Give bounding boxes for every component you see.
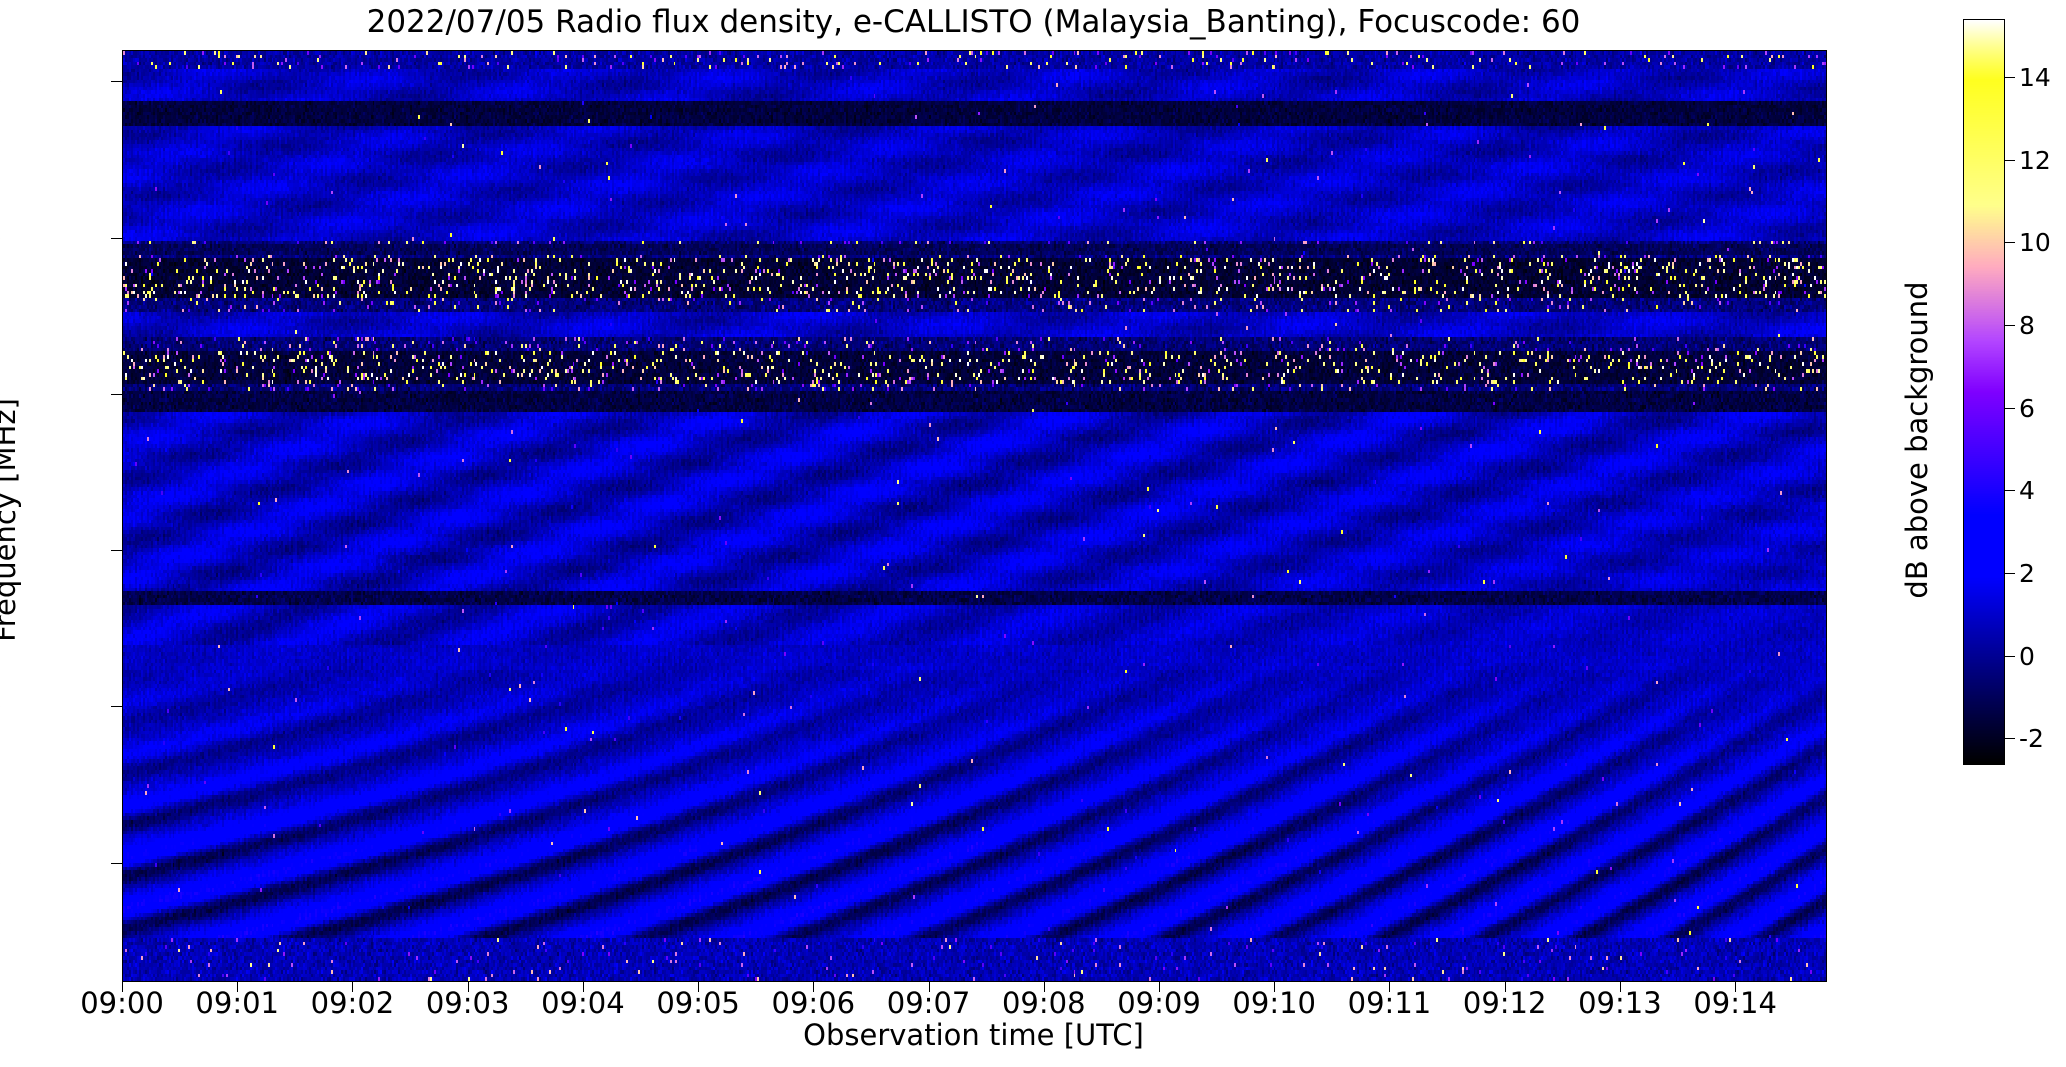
x-axis-tick-mark [122,981,123,992]
colorbar-tick-mark [2005,242,2015,243]
colorbar-tick-label: 6 [2019,394,2035,423]
colorbar[interactable] [1963,19,2005,765]
x-axis-tick-mark [468,981,469,992]
y-axis-tick-label: 120 [0,378,2,412]
x-axis-tick-mark [1159,981,1160,992]
x-axis-tick-mark [1505,981,1506,992]
colorbar-tick-label: -2 [2019,724,2044,753]
colorbar-tick-label: 12 [2019,146,2051,175]
y-axis-tick-label: 160 [0,65,2,99]
x-axis-tick-mark [1735,981,1736,992]
page-title: 2022/07/05 Radio flux density, e-CALLIST… [122,4,1825,40]
colorbar-tick-mark [2005,490,2015,491]
colorbar-tick-label: 4 [2019,476,2035,505]
colorbar-tick-mark [2005,77,2015,78]
x-axis-tick-mark [1620,981,1621,992]
x-axis-tick-mark [237,981,238,992]
x-axis-tick-mark [583,981,584,992]
colorbar-tick-mark [2005,738,2015,739]
y-axis-tick-mark [111,394,122,395]
y-axis-tick-mark [111,238,122,239]
y-axis-tick-label: 140 [0,222,2,256]
y-axis-tick-mark [111,863,122,864]
colorbar-tick-label: 8 [2019,311,2035,340]
figure-canvas: 2022/07/05 Radio flux density, e-CALLIST… [0,0,2066,1067]
colorbar-label: dB above background [1900,230,1934,650]
spectrogram-axes[interactable] [122,50,1827,982]
y-axis-tick-label: 100 [0,534,2,568]
y-axis-label: Frequency [MHz] [0,330,22,710]
x-axis-tick-mark [1389,981,1390,992]
x-axis-tick-mark [929,981,930,992]
spectrogram-image[interactable] [123,51,1826,981]
colorbar-tick-mark [2005,573,2015,574]
colorbar-tick-label: 14 [2019,63,2051,92]
colorbar-tick-mark [2005,656,2015,657]
x-axis-tick-mark [352,981,353,992]
y-axis-tick-label: 80 [0,690,2,724]
y-axis-tick-label: 60 [0,847,2,881]
colorbar-tick-mark [2005,160,2015,161]
y-axis-tick-mark [111,550,122,551]
x-axis-tick-mark [813,981,814,992]
x-axis-tick-mark [698,981,699,992]
x-axis-label: Observation time [UTC] [122,1018,1825,1052]
x-axis-tick-mark [1044,981,1045,992]
y-axis-tick-mark [111,81,122,82]
y-axis-tick-mark [111,706,122,707]
colorbar-tick-mark [2005,408,2015,409]
x-axis-tick-mark [1274,981,1275,992]
colorbar-gradient [1964,20,2004,764]
colorbar-tick-label: 2 [2019,559,2035,588]
colorbar-tick-label: 10 [2019,228,2051,257]
colorbar-tick-label: 0 [2019,642,2035,671]
colorbar-tick-mark [2005,325,2015,326]
